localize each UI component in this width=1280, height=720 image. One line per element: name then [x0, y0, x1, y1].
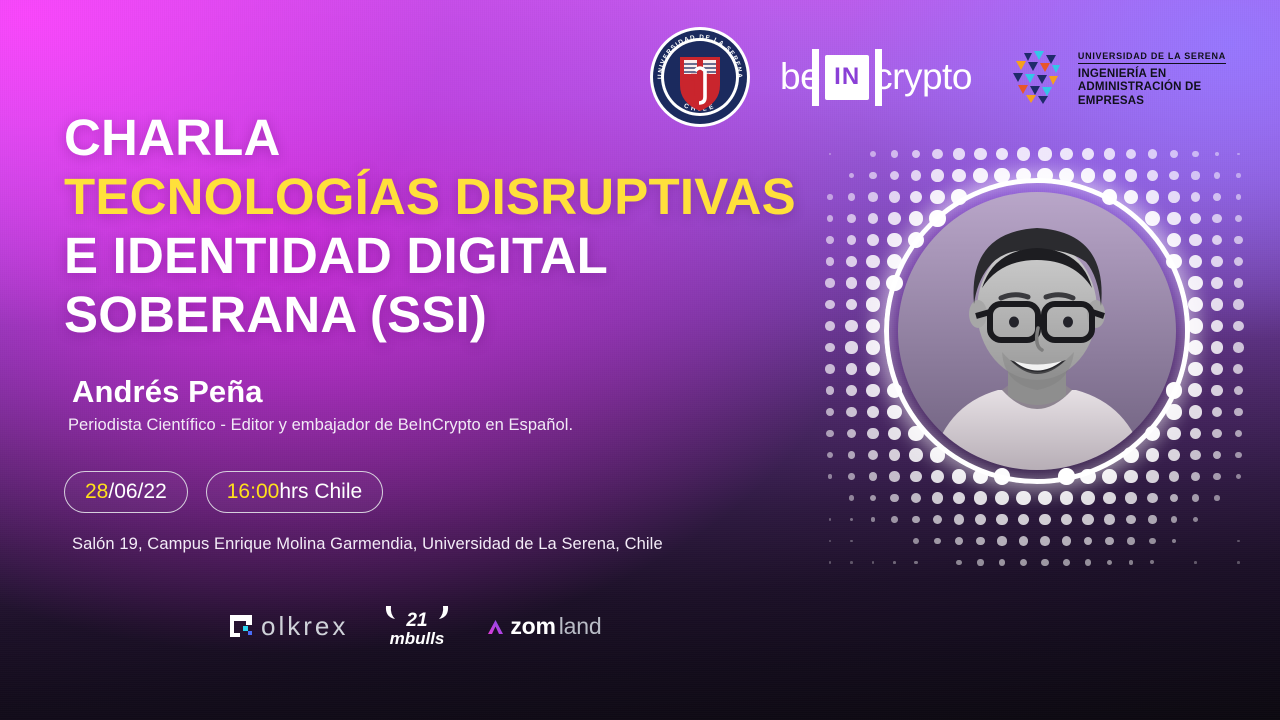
halftone-dot: [1233, 321, 1243, 331]
halftone-dot: [934, 538, 941, 545]
halftone-dot: [1211, 341, 1224, 354]
halftone-dot: [1060, 491, 1074, 505]
halftone-dot: [1171, 516, 1178, 523]
halftone-dot: [827, 452, 833, 458]
halftone-dot: [1214, 172, 1220, 178]
sponsor-name-zom: zom: [510, 613, 555, 640]
halftone-dot: [1212, 214, 1221, 223]
halftone-dot: [931, 470, 944, 483]
sponsor-name-land: land: [559, 613, 602, 640]
halftone-dot: [1191, 192, 1201, 202]
halftone-dot: [1081, 168, 1096, 183]
halftone-dot: [1190, 450, 1200, 460]
halftone-dot: [975, 514, 986, 525]
halftone-dot: [1192, 151, 1198, 157]
olkrex-mark-icon: [228, 613, 254, 639]
universidad-de-la-serena-seal-logo: UNIVERSIDAD DE LA SERENA CHILE: [650, 27, 750, 127]
halftone-dot: [868, 192, 877, 201]
halftone-dot: [912, 150, 921, 159]
halftone-dot: [1019, 536, 1028, 545]
halftone-dot: [825, 300, 835, 310]
halftone-dot: [845, 341, 857, 353]
halftone-dot: [1062, 536, 1071, 545]
halftone-dot: [870, 495, 877, 502]
time-zone: hrs Chile: [279, 480, 362, 504]
halftone-dot: [1145, 211, 1160, 226]
halftone-dot: [829, 153, 832, 156]
halftone-dot: [1237, 153, 1240, 156]
halftone-dot: [1211, 277, 1223, 289]
halftone-dot: [845, 320, 857, 332]
headline-line: TECNOLOGÍAS DISRUPTIVAS: [64, 167, 796, 226]
halftone-dot: [1188, 318, 1203, 333]
halftone-dot: [955, 537, 963, 545]
halftone-dot: [974, 148, 986, 160]
halftone-dot: [1233, 299, 1243, 309]
halftone-dot: [1190, 428, 1202, 440]
halftone-dot: [846, 277, 858, 289]
halftone-dot: [1167, 212, 1180, 225]
halftone-dot: [846, 385, 857, 396]
halftone-dot: [1126, 149, 1137, 160]
halftone-dot: [1234, 257, 1243, 266]
halftone-dot: [1060, 148, 1073, 161]
event-poster: UNIVERSIDAD DE LA SERENA CHILE: [0, 0, 1280, 720]
halftone-dot: [1234, 408, 1243, 417]
sponsor-21mbulls-top: 21: [406, 610, 428, 631]
halftone-dot: [829, 540, 832, 543]
halftone-dot: [1017, 147, 1030, 160]
halftone-dot: [888, 427, 901, 440]
halftone-dot: [868, 450, 878, 460]
halftone-dot: [868, 213, 879, 224]
halftone-dot: [1172, 539, 1177, 544]
halftone-dot: [1234, 236, 1242, 244]
halftone-dot: [933, 515, 942, 524]
halftone-dot: [953, 148, 964, 159]
halftone-dot: [1233, 364, 1243, 374]
halftone-dot: [847, 429, 856, 438]
halftone-dot: [1147, 493, 1157, 503]
halftone-dot: [846, 299, 858, 311]
halftone-dot: [1213, 473, 1220, 480]
halftone-dot: [1082, 514, 1093, 525]
halftone-dot: [1193, 517, 1198, 522]
halftone-dot: [1149, 538, 1155, 544]
halftone-dot: [866, 319, 881, 334]
halftone-dot: [825, 364, 834, 373]
halftone-dot: [829, 518, 832, 521]
halftone-dot: [846, 256, 857, 267]
halftone-dot: [866, 362, 880, 376]
halftone-dot: [1167, 233, 1182, 248]
halftone-dot: [827, 194, 832, 199]
halftone-dot: [1211, 298, 1224, 311]
halftone-dot: [1124, 190, 1139, 205]
halftone-dot: [1105, 537, 1113, 545]
halftone-dot: [1212, 429, 1222, 439]
halftone-dot: [1170, 150, 1178, 158]
halftone-dot: [999, 559, 1006, 566]
halftone-dot: [1192, 494, 1199, 501]
halftone-dot: [1125, 492, 1137, 504]
halftone-dot: [1233, 342, 1243, 352]
halftone-dot: [891, 516, 898, 523]
halftone-dot: [1038, 147, 1051, 160]
halftone-dot: [826, 386, 835, 395]
headline-line: SOBERANA (SSI): [64, 285, 796, 344]
halftone-dot: [953, 492, 965, 504]
halftone-dot: [1146, 470, 1158, 482]
halftone-dot: [1124, 470, 1138, 484]
halftone-dot: [825, 321, 835, 331]
halftone-dot: [909, 211, 923, 225]
halftone-dot: [956, 560, 962, 566]
speaker-role: Periodista Científico - Editor y embajad…: [68, 416, 573, 435]
halftone-dot: [1237, 540, 1240, 543]
halftone-dot: [1016, 491, 1030, 505]
halftone-dot: [1038, 491, 1052, 505]
halftone-dot: [1211, 320, 1224, 333]
speaker-photo-illustration: [898, 192, 1176, 470]
halftone-dot: [869, 472, 877, 480]
zomland-lambda-icon: [486, 617, 505, 636]
halftone-dot: [952, 169, 965, 182]
halftone-dot: [976, 537, 985, 546]
halftone-dot: [1234, 386, 1243, 395]
halftone-dot: [871, 517, 876, 522]
halftone-dot: [995, 491, 1009, 505]
beincrypto-logo-bracket: IN: [825, 55, 869, 100]
event-headline: CHARLA TECNOLOGÍAS DISRUPTIVAS E IDENTID…: [64, 108, 796, 345]
halftone-dot: [890, 171, 899, 180]
faculty-university-name: UNIVERSIDAD DE LA SERENA: [1078, 51, 1226, 65]
halftone-dot: [850, 540, 853, 543]
halftone-dot: [1104, 148, 1116, 160]
halftone-dot: [1129, 560, 1134, 565]
halftone-dot: [1167, 427, 1181, 441]
halftone-dot: [911, 170, 922, 181]
halftone-dot: [889, 191, 900, 202]
halftone-dot: [1188, 276, 1202, 290]
beincrypto-logo: be IN crypto: [780, 55, 972, 100]
speaker-portrait-block: [826, 150, 1246, 580]
time-value: 16:00: [227, 480, 280, 504]
halftone-dot: [1084, 537, 1093, 546]
halftone-dot: [1040, 536, 1049, 545]
sponsor-name-olkrex: olkrex: [261, 611, 348, 642]
halftone-dot: [848, 473, 855, 480]
halftone-dot: [827, 215, 834, 222]
halftone-dot: [1212, 235, 1222, 245]
halftone-dot: [1169, 471, 1180, 482]
schedule-badges: 28/06/22 16:00 hrs Chile: [64, 471, 383, 513]
halftone-dot: [1103, 492, 1116, 505]
halftone-dot: [826, 236, 834, 244]
halftone-dot: [1168, 191, 1180, 203]
halftone-dot: [1236, 173, 1240, 177]
halftone-dot: [1188, 297, 1203, 312]
halftone-dot: [1170, 494, 1179, 503]
uls-seal-graphic: UNIVERSIDAD DE LA SERENA CHILE: [650, 27, 750, 127]
halftone-dot: [914, 561, 918, 565]
triangles-icon: [1010, 49, 1066, 105]
halftone-dot: [1169, 171, 1179, 181]
halftone-dot: [1146, 190, 1159, 203]
halftone-dot: [1018, 514, 1030, 526]
halftone-dot: [850, 518, 853, 521]
faculty-logo-text: UNIVERSIDAD DE LA SERENA INGENIERÍA EN A…: [1078, 46, 1248, 109]
halftone-dot: [826, 257, 835, 266]
sponsor-logo-zomland: zom land: [486, 613, 601, 640]
halftone-dot: [911, 493, 921, 503]
halftone-dot: [846, 407, 856, 417]
halftone-dot: [846, 363, 858, 375]
halftone-dot: [954, 514, 964, 524]
halftone-dot: [1235, 215, 1242, 222]
halftone-dot: [1211, 256, 1222, 267]
halftone-dot: [893, 561, 896, 564]
halftone-dot: [931, 169, 943, 181]
date-rest: /06/22: [108, 480, 166, 504]
halftone-dot: [973, 168, 987, 182]
halftone-dot: [891, 150, 899, 158]
halftone-dot: [1082, 148, 1094, 160]
halftone-dot: [1189, 255, 1203, 269]
sponsor-logo-olkrex: olkrex: [228, 611, 348, 642]
halftone-dot: [1214, 495, 1219, 500]
halftone-dot: [869, 172, 877, 180]
halftone-dot: [1213, 193, 1221, 201]
halftone-dot: [1085, 559, 1091, 565]
halftone-dot: [1191, 171, 1199, 179]
halftone-dot: [1236, 474, 1241, 479]
halftone-dot: [1237, 561, 1240, 564]
halftone-dot: [1104, 514, 1114, 524]
halftone-dot: [1146, 448, 1160, 462]
halftone-dot: [1236, 194, 1242, 200]
halftone-dot: [1147, 170, 1158, 181]
halftone-dot: [1188, 340, 1203, 355]
logo-bar: UNIVERSIDAD DE LA SERENA CHILE: [650, 27, 1248, 127]
halftone-dot: [913, 538, 919, 544]
halftone-dot: [1188, 362, 1203, 377]
speaker-block: Andrés Peña Periodista Científico - Edit…: [72, 374, 573, 435]
halftone-dot: [867, 234, 879, 246]
sponsor-logo-21mbulls: 21 mbulls: [378, 604, 456, 648]
faculty-program-name: INGENIERÍA EN ADMINISTRACIÓN DE EMPRESAS: [1078, 68, 1248, 109]
date-day: 28: [85, 480, 108, 504]
halftone-dot: [825, 343, 835, 353]
halftone-dot: [1148, 515, 1156, 523]
halftone-dot: [1194, 561, 1197, 564]
halftone-dot: [1150, 560, 1154, 564]
headline-line: E IDENTIDAD DIGITAL: [64, 226, 796, 285]
sponsor-logos: olkrex 21 mbulls z: [228, 604, 601, 648]
halftone-dot: [887, 233, 901, 247]
halftone-dot: [1148, 149, 1157, 158]
halftone-dot: [1188, 383, 1202, 397]
halftone-dot: [1061, 514, 1073, 526]
halftone-dot: [866, 340, 881, 355]
halftone-dot: [1189, 405, 1202, 418]
halftone-dot: [909, 448, 923, 462]
halftone-dot: [1041, 559, 1048, 566]
halftone-dot: [826, 430, 833, 437]
halftone-dot: [996, 148, 1009, 161]
halftone-dot: [889, 449, 901, 461]
halftone-dot: [887, 405, 902, 420]
faculty-logo: UNIVERSIDAD DE LA SERENA INGENIERÍA EN A…: [1010, 46, 1248, 109]
halftone-dot: [849, 495, 854, 500]
speaker-name: Andrés Peña: [72, 374, 573, 410]
halftone-dot: [850, 561, 853, 564]
halftone-dot: [828, 474, 833, 479]
halftone-dot: [1103, 169, 1117, 183]
halftone-dot: [866, 384, 879, 397]
halftone-dot: [867, 428, 878, 439]
venue-text: Salón 19, Campus Enrique Molina Garmendi…: [72, 535, 663, 554]
date-badge: 28/06/22: [64, 471, 188, 513]
halftone-dot: [829, 561, 832, 564]
beincrypto-logo-mid: IN: [834, 63, 860, 91]
halftone-dot: [997, 536, 1006, 545]
time-badge: 16:00 hrs Chile: [206, 471, 383, 513]
halftone-dot: [996, 514, 1008, 526]
halftone-dot: [1126, 515, 1135, 524]
halftone-dot: [974, 491, 987, 504]
halftone-dot: [1211, 363, 1223, 375]
halftone-dot: [866, 276, 880, 290]
halftone-dot: [910, 471, 922, 483]
halftone-dot: [848, 193, 855, 200]
halftone-dot: [847, 235, 857, 245]
halftone-dot: [952, 469, 966, 483]
halftone-dot: [847, 214, 856, 223]
halftone-dot: [1215, 152, 1220, 157]
halftone-dot: [870, 151, 876, 157]
halftone-dot: [866, 297, 880, 311]
halftone-dot: [848, 451, 856, 459]
halftone-dot: [1189, 234, 1202, 247]
sponsor-21mbulls-bottom: mbulls: [390, 629, 445, 648]
halftone-dot: [1125, 169, 1138, 182]
halftone-dot: [910, 191, 923, 204]
halftone-dot: [1211, 385, 1223, 397]
halftone-dot: [1020, 559, 1027, 566]
halftone-dot: [1234, 278, 1244, 288]
halftone-dot: [1235, 430, 1243, 438]
halftone-dot: [1107, 560, 1113, 566]
halftone-dot: [849, 173, 855, 179]
halftone-dot: [867, 406, 879, 418]
halftone-dot: [1213, 451, 1221, 459]
halftone-dot: [1212, 407, 1223, 418]
halftone-dot: [977, 559, 983, 565]
halftone-dot: [912, 516, 920, 524]
halftone-dot: [1063, 559, 1070, 566]
halftone-dot: [888, 212, 901, 225]
beincrypto-logo-post: crypto: [874, 56, 972, 98]
halftone-dot: [1039, 514, 1051, 526]
halftone-dot: [1191, 472, 1200, 481]
halftone-dot: [1127, 537, 1134, 544]
halftone-dot: [1081, 491, 1094, 504]
halftone-dot: [1235, 452, 1241, 458]
halftone-dot: [825, 278, 834, 287]
halftone-dot: [932, 149, 942, 159]
halftone-dot: [1168, 449, 1180, 461]
halftone-dot: [866, 255, 879, 268]
halftone-dot: [932, 492, 943, 503]
halftone-dot: [1190, 213, 1201, 224]
halftone-dot: [826, 408, 834, 416]
halftone-dot: [890, 494, 898, 502]
halftone-dot: [930, 190, 944, 204]
speaker-avatar: [898, 192, 1176, 470]
halftone-dot: [872, 561, 875, 564]
halftone-dot: [1102, 469, 1117, 484]
halftone-dot: [889, 471, 899, 481]
